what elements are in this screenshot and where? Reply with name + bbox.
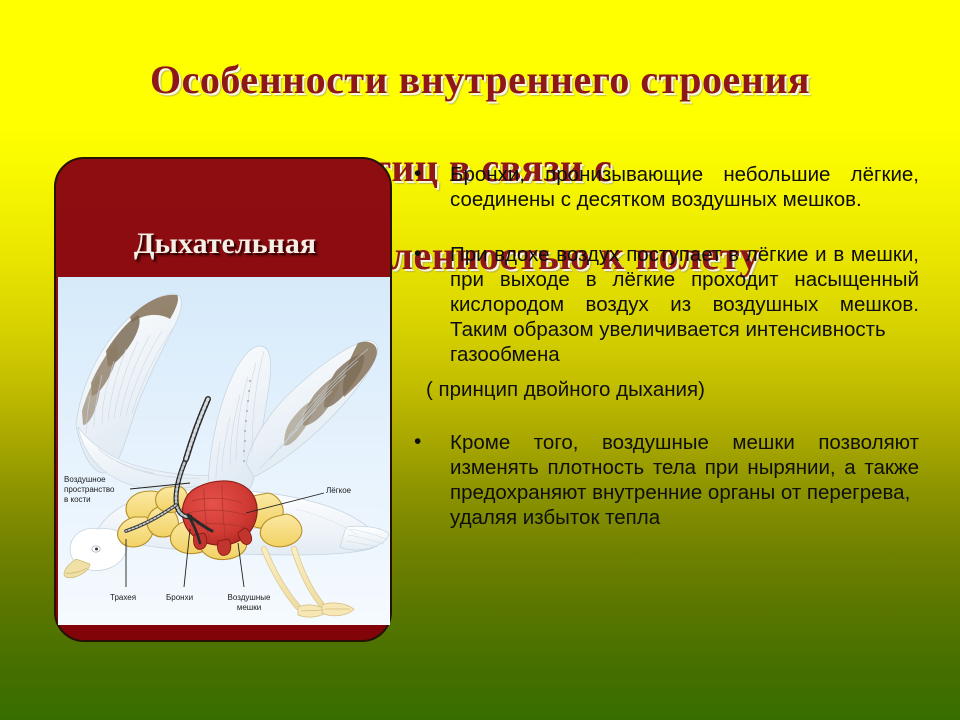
bird-illustration-svg (58, 277, 390, 625)
bullet-text-2: При вдохе воздух поступает в лёгкие и в … (450, 242, 919, 342)
bird-respiratory-diagram: Воздушное пространство в кости Лёгкое Тр… (58, 277, 390, 625)
content-column: • Бронхи, пронизывающие небольшие лёгкие… (404, 162, 919, 554)
title-line-1: Особенности внутреннего строения (0, 58, 960, 102)
diagram-label-bronchi: Бронхи (166, 593, 193, 603)
diagram-label-lung: Лёгкое (326, 486, 351, 496)
bullet-text-1: Бронхи, пронизывающие небольшие лёгкие, … (450, 162, 919, 212)
bullet-text-3-last: удаляя избыток тепла (450, 505, 919, 530)
bullet-item-2: • При вдохе воздух поступает в лёгкие и … (404, 242, 919, 367)
bullet-marker-1: • (414, 161, 421, 186)
respiratory-system-panel: Дыхательная система (54, 157, 392, 642)
bullet-item-3: • Кроме того, воздушные мешки позволяют … (404, 430, 919, 530)
diagram-label-bone: Воздушное пространство в кости (64, 475, 114, 505)
bullet-marker-3: • (414, 429, 421, 454)
note-double-breathing: ( принцип двойного дыхания) (404, 377, 919, 402)
bullet-item-1: • Бронхи, пронизывающие небольшие лёгкие… (404, 162, 919, 212)
bullet-text-3: Кроме того, воздушные мешки позволяют из… (450, 430, 919, 505)
bullet-text-2-last: газообмена (450, 342, 919, 367)
bullet-marker-2: • (414, 241, 421, 266)
slide-root: Особенности внутреннего строения птиц в … (0, 0, 960, 720)
panel-title-line-1: Дыхательная (56, 225, 394, 263)
diagram-label-trachea: Трахея (110, 593, 136, 603)
diagram-label-air-sacs: Воздушные мешки (214, 593, 284, 613)
